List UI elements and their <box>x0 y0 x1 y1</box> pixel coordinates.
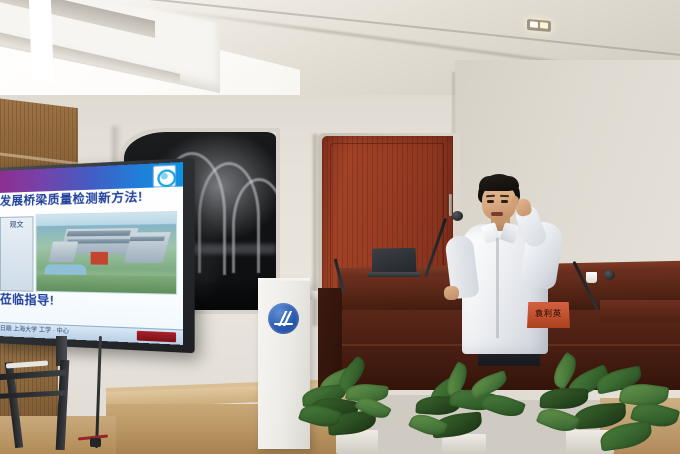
ceiling-beam <box>28 0 53 82</box>
table-right-shelf <box>600 300 680 322</box>
laptop-base[interactable] <box>367 272 420 277</box>
tv-power-plug <box>90 438 101 447</box>
table-skirt-seam <box>318 344 680 346</box>
slide-facility-photo <box>36 211 178 295</box>
name-card: 袁利英 <box>527 302 570 328</box>
microphone-head-right[interactable] <box>604 270 615 280</box>
leaf <box>540 387 589 410</box>
paper-cup[interactable] <box>586 272 597 283</box>
slide-bottom-line: 莅临指导! <box>0 291 183 314</box>
water-bottle-label <box>453 256 464 267</box>
slide-taskbar-highlight <box>137 331 176 343</box>
plant-pot-middle <box>442 434 486 454</box>
door-hinge-upper <box>449 194 452 216</box>
institute-emblem-icon <box>153 165 176 188</box>
slide-sidebar-textbox: 观文 <box>0 216 33 292</box>
water-bottle-cap[interactable] <box>454 237 463 243</box>
downlight-icon <box>527 19 551 32</box>
laptop-screen[interactable] <box>372 248 416 275</box>
university-blue-emblem-icon <box>268 303 299 334</box>
presentation-slide: 发展桥梁质量检测新方法! 观文 莅临指导! 日期 上海大学 工学 · 中心 <box>0 162 183 345</box>
conference-presentation-photo: 发展桥梁质量检测新方法! 观文 莅临指导! 日期 上海大学 工学 · 中心 <box>0 0 680 454</box>
name-card-text: 袁利英 <box>527 309 570 319</box>
presentation-screen[interactable]: 发展桥梁质量检测新方法! 观文 莅临指导! 日期 上海大学 工学 · 中心 <box>0 162 183 345</box>
microphone-head-left[interactable] <box>452 211 463 221</box>
